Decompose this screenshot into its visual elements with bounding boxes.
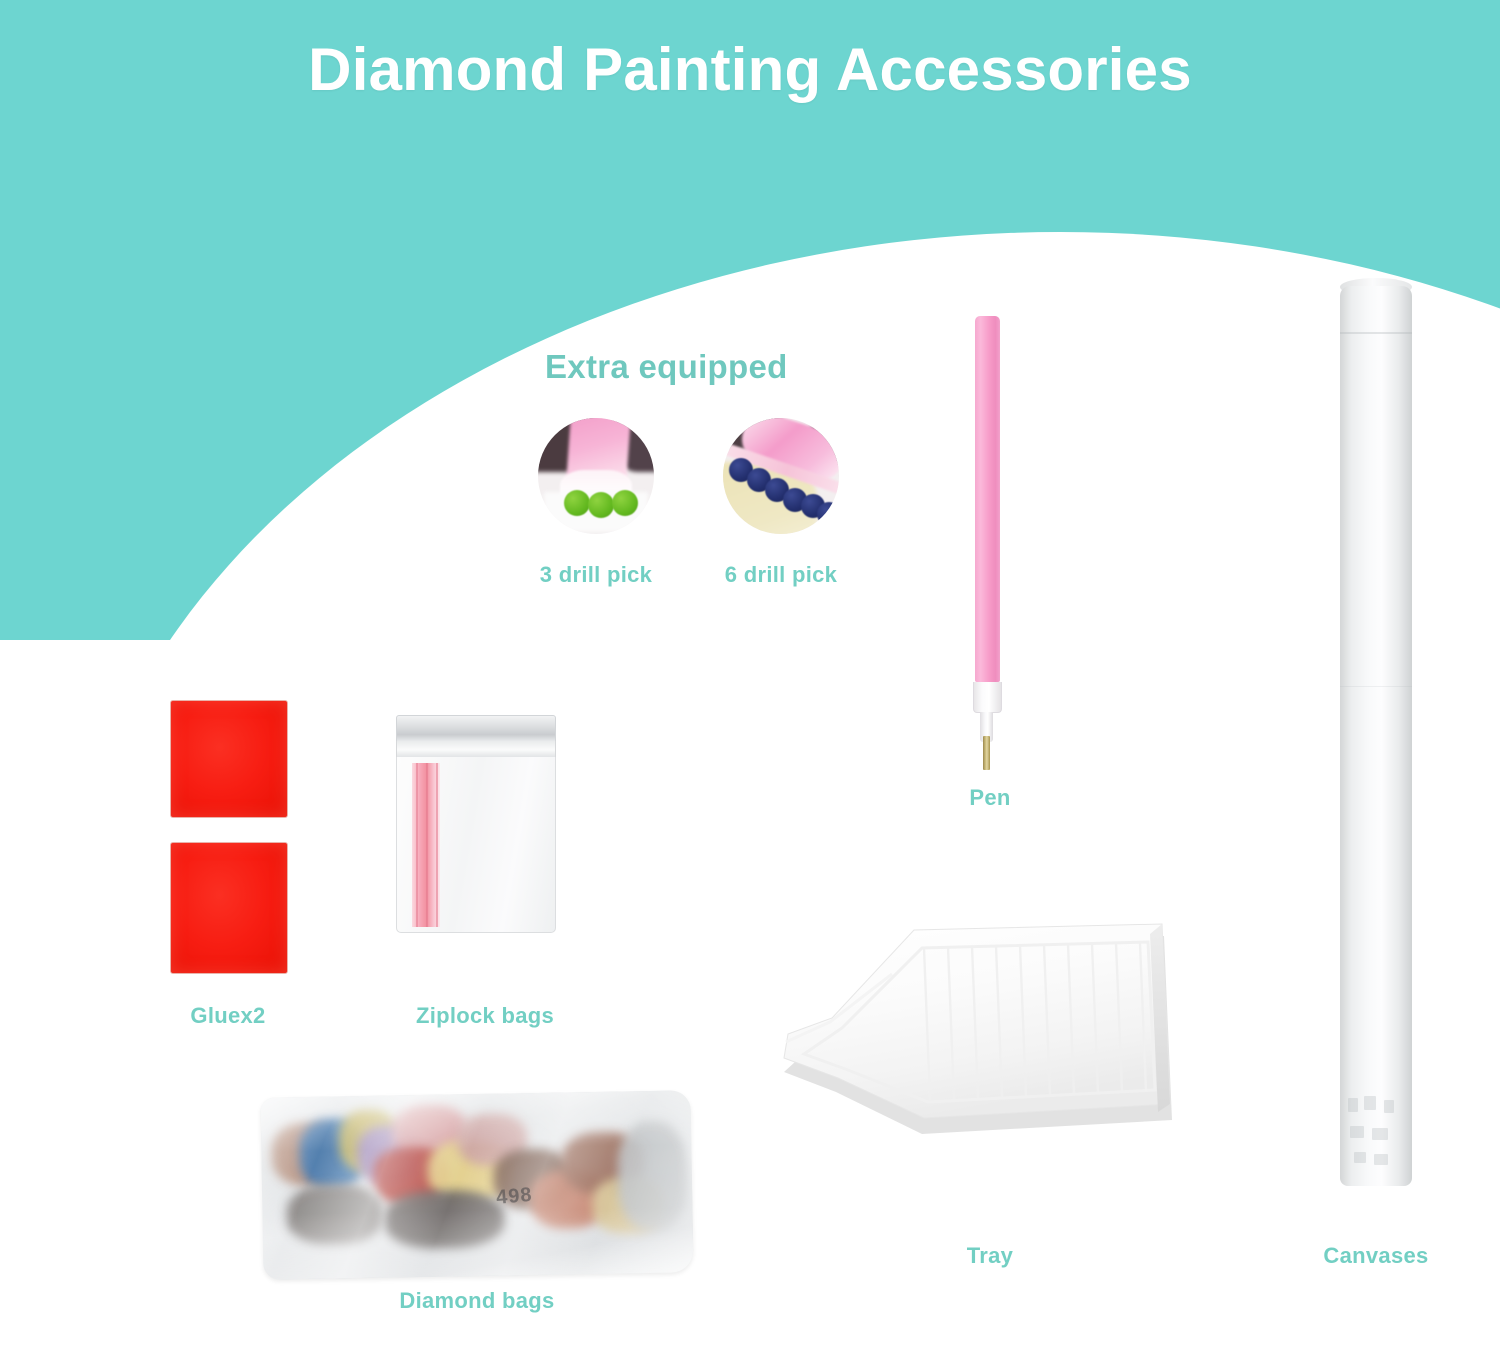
page-title: Diamond Painting Accessories <box>0 38 1500 103</box>
diamond-bags-illustration: 498 <box>260 1090 693 1279</box>
tube-seam <box>1340 686 1412 687</box>
drill-pick-6-label: 6 drill pick <box>663 562 899 588</box>
diamond-bags-label: Diamond bags <box>332 1288 622 1314</box>
drill-bead <box>817 502 839 526</box>
tube-marking <box>1364 1096 1376 1110</box>
tube-marking <box>1384 1100 1394 1113</box>
ziplock-top-strip <box>396 715 556 743</box>
pen-barrel <box>975 316 1000 682</box>
canvases-label: Canvases <box>1291 1243 1461 1269</box>
tube-marking <box>1348 1098 1358 1112</box>
extra-equipped-heading: Extra equipped <box>545 348 788 386</box>
ziplock-label: Ziplock bags <box>400 1003 570 1029</box>
tray-label: Tray <box>905 1243 1075 1269</box>
tube-marking <box>1350 1126 1364 1138</box>
infographic-canvas: Diamond Painting Accessories Extra equip… <box>0 0 1500 1346</box>
plastic-wrap-sheen <box>260 1090 693 1279</box>
pen-label: Pen <box>905 785 1075 811</box>
tray-shape <box>772 912 1188 1202</box>
glue-square <box>170 700 288 818</box>
ziplock-stripe-line <box>436 763 438 927</box>
drill-pick-3-photo <box>538 418 654 534</box>
tray-illustration <box>772 912 1188 1202</box>
drill-bead <box>564 490 590 516</box>
glue-label: Gluex2 <box>143 1003 313 1029</box>
ziplock-stripe-line <box>426 763 428 927</box>
tube-body <box>1340 286 1412 1186</box>
ziplock-stripe-line <box>416 763 418 927</box>
ziplock-illustration <box>396 715 554 933</box>
pen-collar <box>973 682 1002 713</box>
drill-bead <box>612 490 638 516</box>
ziplock-zipper <box>396 741 556 757</box>
drill-bead <box>588 492 614 518</box>
tube-marking <box>1354 1152 1366 1163</box>
tube-marking <box>1374 1154 1388 1165</box>
tube-marking <box>1372 1128 1388 1140</box>
pen-metal-tip <box>983 736 990 770</box>
drill-pick-6-photo <box>723 418 839 534</box>
bundle-marking: 498 <box>495 1184 533 1210</box>
tube-seam <box>1340 332 1412 334</box>
glue-square <box>170 842 288 974</box>
